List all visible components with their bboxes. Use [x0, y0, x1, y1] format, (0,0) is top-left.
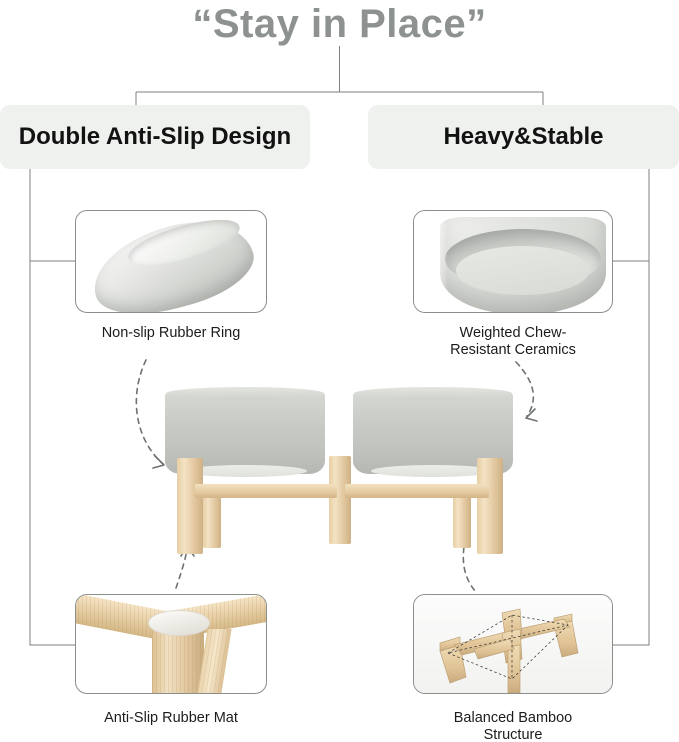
caption-balanced-bamboo-structure: Balanced Bamboo Structure	[400, 710, 626, 742]
connector-left-spine	[30, 169, 75, 645]
photo-frame-anti-slip-rubber-mat	[75, 594, 267, 694]
ceramic-bowl-art	[83, 210, 262, 313]
rubber-pad-disc	[148, 610, 210, 636]
photo-bamboo-leg-rubber-pad	[76, 595, 266, 693]
category-label: Double Anti-Slip Design	[19, 123, 291, 151]
photo-ceramic-bowl-tilted	[76, 211, 266, 312]
pointer-top-right-arrowhead	[526, 409, 537, 421]
photo-bamboo-stand-structure	[414, 595, 612, 693]
highlight-gloss	[414, 211, 448, 312]
hero-leg-right-outer	[477, 458, 503, 554]
ceramic-interior-art	[440, 217, 606, 313]
category-label: Heavy&Stable	[443, 123, 603, 151]
photo-frame-non-slip-rubber-ring	[75, 210, 267, 313]
photo-frame-weighted-chew-resistant-ceramics	[413, 210, 613, 313]
hero-leg-center	[329, 456, 351, 544]
stand-post-front	[508, 645, 520, 693]
hero-rail-right	[345, 484, 489, 498]
category-box-heavy-stable[interactable]: Heavy&Stable	[368, 105, 679, 169]
pointer-bottom-left-dashed	[176, 548, 187, 588]
hero-rail-left	[195, 484, 337, 498]
page-title: “Stay in Place”	[0, 2, 679, 47]
category-box-double-anti-slip-design[interactable]: Double Anti-Slip Design	[0, 105, 310, 169]
product-feature-infographic: “Stay in Place” Double Anti-Slip Design …	[0, 0, 679, 742]
caption-non-slip-rubber-ring: Non-slip Rubber Ring	[55, 325, 287, 342]
caption-anti-slip-rubber-mat: Anti-Slip Rubber Mat	[55, 710, 287, 727]
caption-weighted-chew-resistant-ceramics: Weighted Chew- Resistant Ceramics	[400, 325, 626, 359]
connector-right-spine	[613, 169, 649, 645]
photo-frame-balanced-bamboo-structure	[413, 594, 613, 694]
hero-leg-left-outer	[177, 458, 203, 554]
hero-product-double-bowl-bamboo-stand	[155, 392, 525, 552]
stand-diagram	[414, 595, 613, 694]
photo-ceramic-bowl-interior	[414, 211, 612, 312]
